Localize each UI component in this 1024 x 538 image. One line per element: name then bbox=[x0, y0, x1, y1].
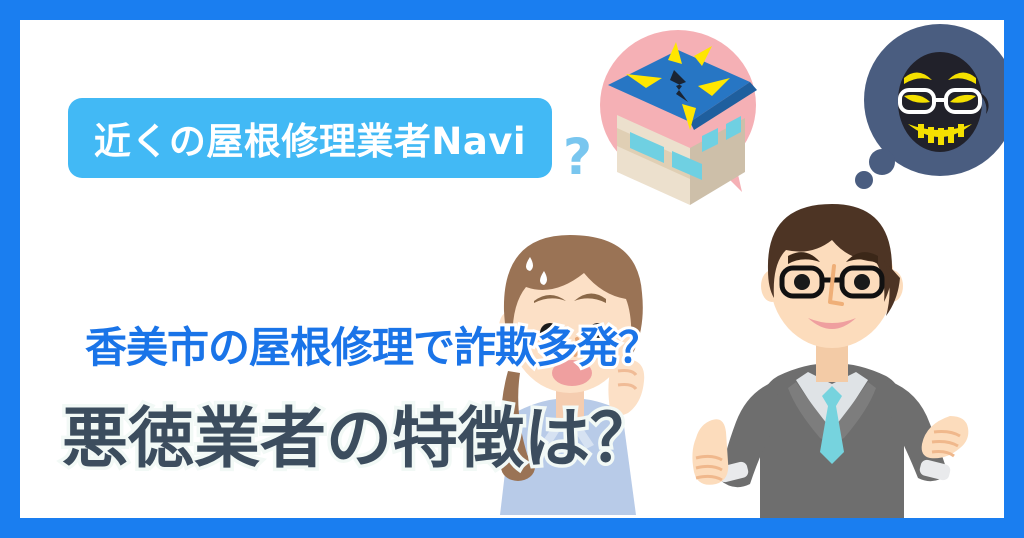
site-name-label: 近くの屋根修理業者Navi bbox=[94, 111, 526, 165]
question-mark-decoration-icon: ? bbox=[563, 132, 592, 182]
villain-thought-bubble bbox=[842, 20, 1004, 210]
poster-canvas: 近くの屋根修理業者Navi ? 香美市の屋根修理で詐欺多発？ 悪徳業者の特徴は？ bbox=[0, 0, 1024, 538]
page-title: 悪徳業者の特徴は？ bbox=[62, 385, 656, 481]
man-suit bbox=[720, 363, 948, 518]
damaged-house-speech-bubble bbox=[590, 20, 790, 210]
site-name-badge[interactable]: 近くの屋根修理業者Navi bbox=[68, 98, 552, 178]
pointing-hand bbox=[692, 419, 728, 485]
pointing-businessman bbox=[682, 190, 982, 518]
poster-inner-area: 近くの屋根修理業者Navi ? 香美市の屋根修理で詐欺多発？ 悪徳業者の特徴は？ bbox=[20, 20, 1004, 518]
subtitle-text: 香美市の屋根修理で詐欺多発？ bbox=[85, 314, 659, 375]
